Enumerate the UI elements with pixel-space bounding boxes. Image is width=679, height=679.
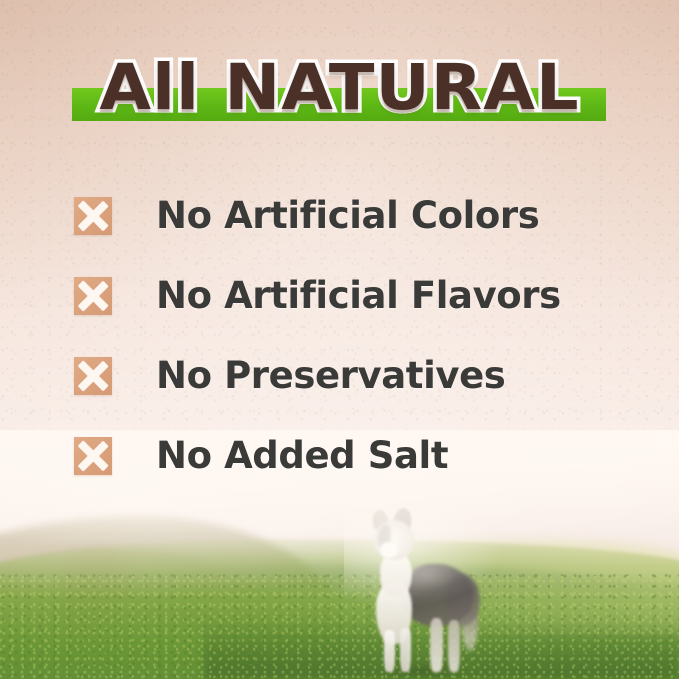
list-item: No Artificial Flavors [74,256,614,336]
feature-label: No Artificial Flavors [156,276,561,316]
feature-label: No Added Salt [156,436,448,476]
list-item: No Artificial Colors [74,176,614,256]
dog-body-highlight [408,566,454,590]
dog-hind-leg-right [448,620,460,672]
list-item: No Preservatives [74,336,614,416]
dog-front-leg-right [400,628,411,672]
feature-label: No Artificial Colors [156,196,539,236]
x-mark-icon [74,437,112,475]
all-natural-poster: All NATURAL No Artificial Colors No Arti… [0,0,679,679]
page-title: All NATURAL [0,49,679,127]
grass-texture [0,571,679,679]
list-item: No Added Salt [74,416,614,496]
border-collie-dog [358,508,490,672]
feature-list: No Artificial Colors No Artificial Flavo… [74,176,614,496]
x-mark-icon [74,197,112,235]
dog-front-leg-left [384,630,395,672]
dog-hind-leg-left [430,618,443,672]
x-mark-icon [74,277,112,315]
feature-label: No Preservatives [156,356,505,396]
title-banner: All NATURAL [0,49,679,131]
x-mark-icon [74,357,112,395]
